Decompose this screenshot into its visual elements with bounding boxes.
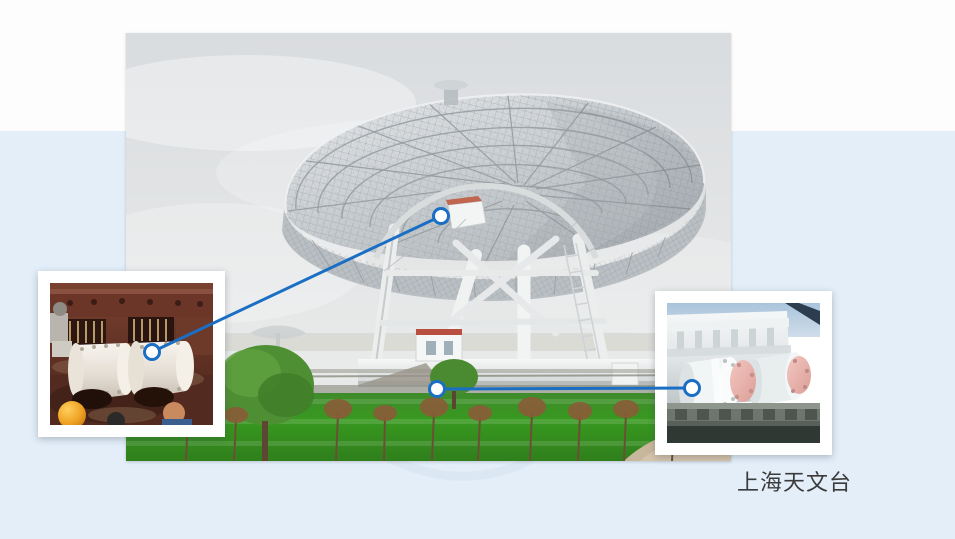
inset-right-image	[667, 303, 820, 443]
inset-left-image	[50, 283, 213, 425]
caption-text: 上海天文台	[737, 470, 852, 498]
inset-left	[38, 271, 225, 437]
slide-canvas: 上海天文台	[0, 0, 955, 539]
inset-right	[655, 291, 832, 455]
